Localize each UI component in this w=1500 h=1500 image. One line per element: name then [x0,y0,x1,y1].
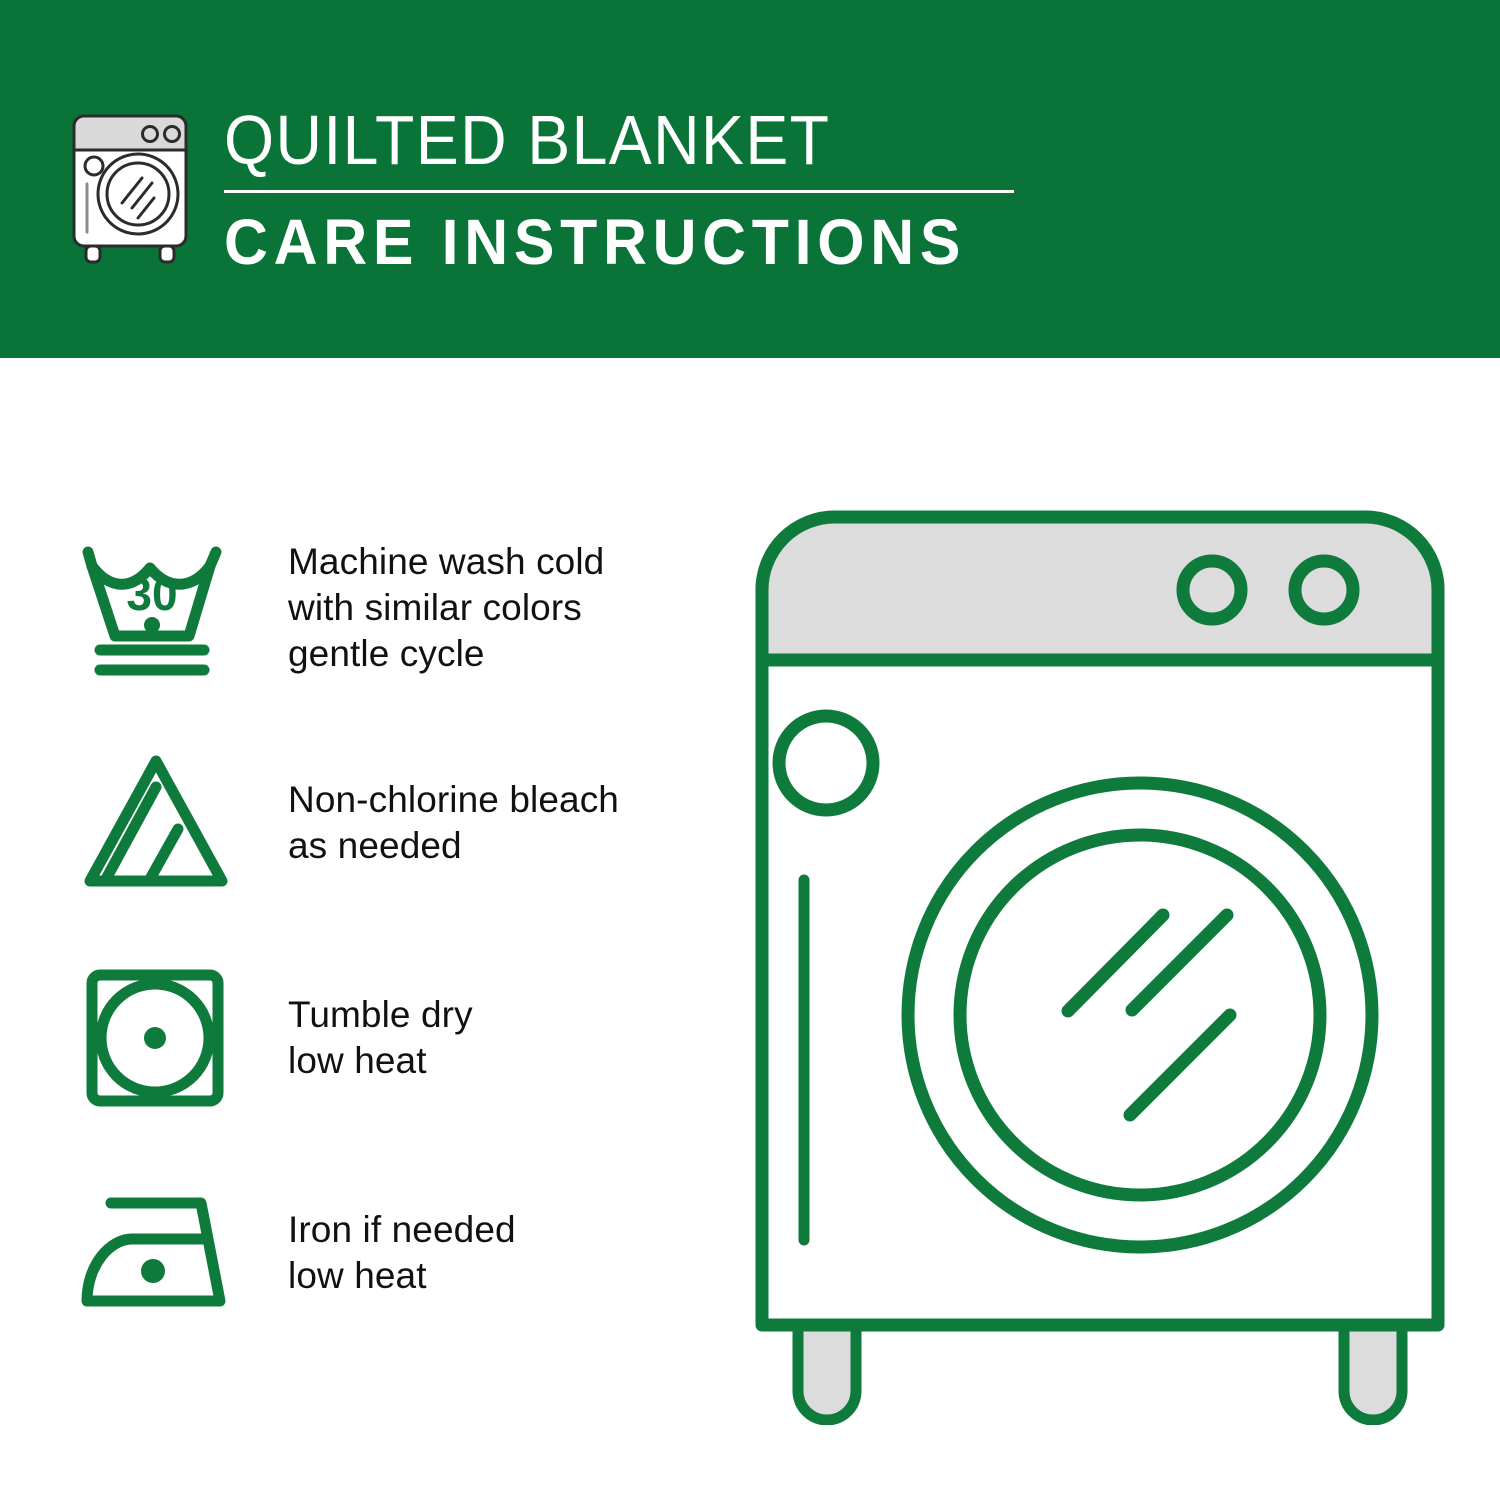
list-item: Tumble dry low heat [60,930,720,1145]
header-content: QUILTED BLANKET CARE INSTRUCTIONS [62,96,1014,277]
list-item-label: Machine wash cold with similar colors ge… [288,539,604,677]
front-load-washing-machine-illustration [740,495,1460,1425]
page-subtitle: CARE INSTRUCTIONS [224,207,975,277]
list-item-label: Iron if needed low heat [288,1207,516,1299]
care-instructions-list: 30 Machine wash cold with similar colors… [60,500,720,1360]
iron-low-heat-icon [60,1165,260,1340]
list-item-label: Tumble dry low heat [288,992,473,1084]
list-item-label: Non-chlorine bleach as needed [288,777,619,869]
list-item: Non-chlorine bleach as needed [60,715,720,930]
title-divider [224,190,1014,193]
wash-temperature-value: 30 [126,568,177,620]
control-panel [762,517,1438,660]
header-banner: QUILTED BLANKET CARE INSTRUCTIONS [0,0,1500,358]
title-block: QUILTED BLANKET CARE INSTRUCTIONS [224,96,1014,277]
washing-machine-icon [62,104,202,264]
list-item: 30 Machine wash cold with similar colors… [60,500,720,715]
page-title: QUILTED BLANKET [224,102,951,178]
non-chlorine-bleach-triangle-icon [60,735,260,910]
list-item: Iron if needed low heat [60,1145,720,1360]
wash-tub-30-gentle-icon: 30 [60,520,260,695]
tumble-dry-low-icon [60,950,260,1125]
